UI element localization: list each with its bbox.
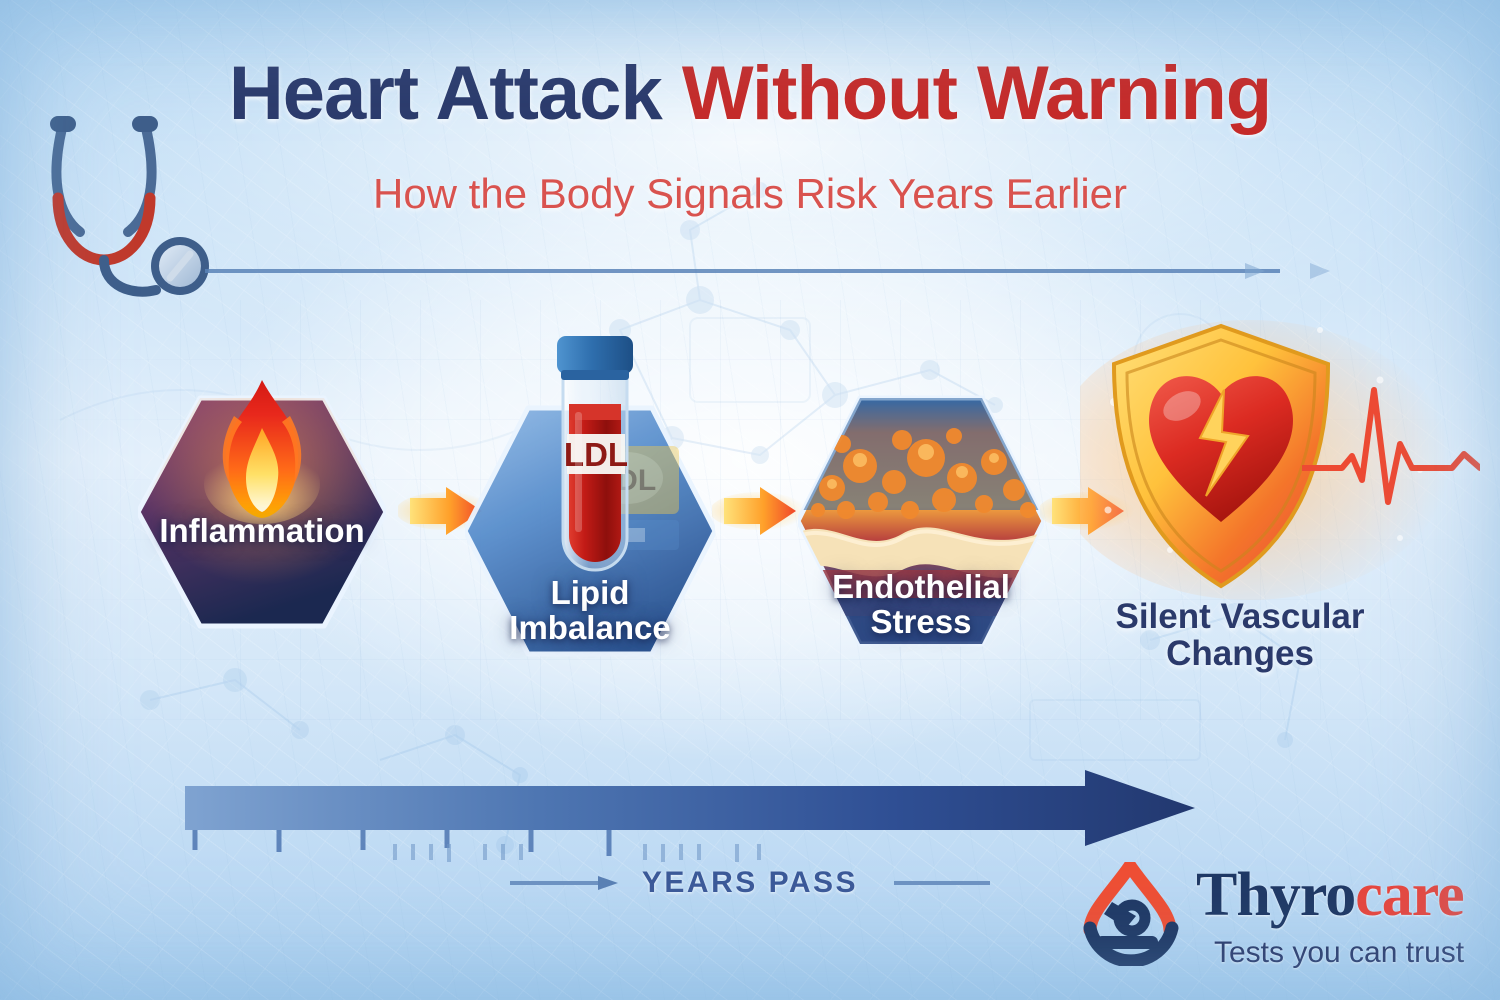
hexagon-shape-endothelial — [798, 392, 1044, 650]
arrow-right-glow-icon-2 — [712, 478, 808, 544]
stage-endothelial-stress[interactable]: Endothelial Stress — [798, 392, 1044, 650]
thyrocare-logo[interactable]: Thyrocare Tests you can trust — [1078, 862, 1478, 990]
stage-inflammation[interactable]: Inflammation — [138, 388, 386, 636]
years-pass-label: YEARS PASS — [626, 866, 874, 899]
thyrocare-droplet-microscope-icon — [1078, 862, 1194, 966]
title-accent: Without Warning — [682, 51, 1271, 136]
blood-test-tube-icon: LDL — [547, 332, 643, 600]
thyrocare-tagline: Tests you can trust — [1214, 936, 1464, 970]
timeline-arrow-icon — [185, 770, 1195, 870]
flame-icon — [200, 376, 324, 526]
infographic-canvas: Heart Attack Without Warning How the Bod… — [0, 0, 1500, 1000]
stethoscope-icon — [28, 110, 258, 310]
thyrocare-wordmark: Thyrocare — [1196, 864, 1464, 926]
years-pass-arrow-right-icon — [880, 875, 990, 891]
stage-silent-vascular-changes[interactable]: Silent Vascular Changes — [1080, 310, 1480, 690]
logo-word-primary: Thyro — [1196, 861, 1355, 929]
title-primary: Heart Attack — [229, 51, 682, 136]
svg-text:LDL: LDL — [564, 436, 628, 473]
years-pass-arrow-left-icon — [510, 875, 620, 891]
ecg-line-icon — [1302, 376, 1480, 516]
header-rule-arrow — [205, 262, 1335, 280]
stage-lipid-imbalance[interactable]: LDL LDL — [465, 400, 715, 662]
logo-word-accent: care — [1355, 861, 1463, 929]
